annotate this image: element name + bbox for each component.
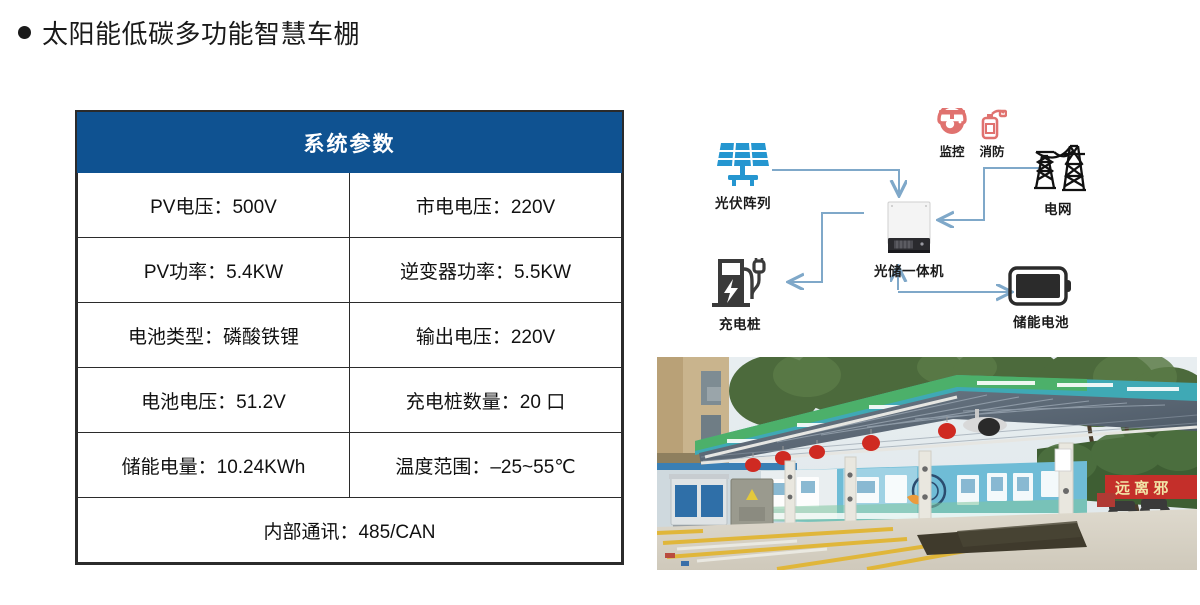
table-header-title: 系统参数 xyxy=(78,113,622,173)
table-row: PV电压：500V 市电电压：220V xyxy=(78,173,622,238)
cell-pv-voltage: PV电压：500V xyxy=(78,173,350,238)
diagram-aux-label: 消防 xyxy=(979,141,1004,160)
diagram-node-pv-array[interactable]: 光伏阵列 xyxy=(712,140,774,212)
system-flow-diagram: 光伏阵列 监控 xyxy=(650,100,1198,350)
carport-photo-illustration: 远 离 邪 xyxy=(657,357,1197,570)
inverter-icon xyxy=(885,200,933,256)
diagram-node-monitoring[interactable]: 监控 xyxy=(937,108,967,160)
diagram-node-label: 充电桩 xyxy=(719,313,761,333)
diagram-node-label: 光储一体机 xyxy=(874,260,944,280)
diagram-node-fire[interactable]: 消防 xyxy=(977,108,1007,160)
diagram-node-label: 光伏阵列 xyxy=(715,192,771,212)
dome-camera-icon xyxy=(937,108,967,140)
connector-pv-to-inverter xyxy=(772,170,899,194)
table-row: 储能电量：10.24KWh 温度范围：–25~55℃ xyxy=(78,433,622,498)
table-row: PV功率：5.4KW 逆变器功率：5.5KW xyxy=(78,238,622,303)
connector-inverter-to-charger xyxy=(790,213,864,282)
page-title: 太阳能低碳多功能智慧车棚 xyxy=(18,14,360,51)
battery-icon xyxy=(1008,265,1074,307)
cell-mains-voltage: 市电电压：220V xyxy=(350,173,622,238)
cell-storage-capacity: 储能电量：10.24KWh xyxy=(78,433,350,498)
system-parameters-table: 系统参数 PV电压：500V 市电电压：220V PV功率：5.4KW 逆变器功… xyxy=(75,110,624,565)
cell-internal-comm: 内部通讯：485/CAN xyxy=(78,498,622,563)
charging-pile-icon xyxy=(712,255,768,309)
diagram-node-battery[interactable]: 储能电池 xyxy=(1008,265,1074,331)
cell-pv-power: PV功率：5.4KW xyxy=(78,238,350,303)
right-pane: 光伏阵列 监控 xyxy=(650,100,1198,580)
page-title-text: 太阳能低碳多功能智慧车棚 xyxy=(42,14,360,51)
cell-charger-count: 充电桩数量：20 口 xyxy=(350,368,622,433)
svg-text:远 离 邪: 远 离 邪 xyxy=(1115,479,1168,497)
slide-page: 太阳能低碳多功能智慧车棚 系统参数 PV电压：500V 市电电压：220V PV… xyxy=(0,0,1200,605)
power-tower-icon xyxy=(1025,138,1091,194)
diagram-node-label: 电网 xyxy=(1044,198,1072,218)
fire-extinguisher-icon xyxy=(977,108,1007,140)
diagram-node-charging-pile[interactable]: 充电桩 xyxy=(712,255,768,333)
table-header-row: 系统参数 xyxy=(78,113,622,173)
cell-temp-range: 温度范围：–25~55℃ xyxy=(350,433,622,498)
cell-output-voltage: 输出电压：220V xyxy=(350,303,622,368)
solar-panel-icon xyxy=(712,140,774,188)
diagram-node-label: 储能电池 xyxy=(1013,311,1069,331)
table-row: 电池电压：51.2V 充电桩数量：20 口 xyxy=(78,368,622,433)
diagram-node-inverter[interactable]: 光储一体机 xyxy=(874,200,944,280)
diagram-aux-group: 监控 消防 xyxy=(937,108,1007,160)
diagram-aux-label: 监控 xyxy=(939,141,964,160)
cell-inverter-power: 逆变器功率：5.5KW xyxy=(350,238,622,303)
table-row: 内部通讯：485/CAN xyxy=(78,498,622,563)
cell-battery-voltage: 电池电压：51.2V xyxy=(78,368,350,433)
diagram-node-grid[interactable]: 电网 xyxy=(1025,138,1091,218)
table-row: 电池类型：磷酸铁锂 输出电压：220V xyxy=(78,303,622,368)
cell-battery-type: 电池类型：磷酸铁锂 xyxy=(78,303,350,368)
carport-photo: 远 离 邪 xyxy=(657,357,1197,570)
bullet-dot-icon xyxy=(18,26,31,39)
